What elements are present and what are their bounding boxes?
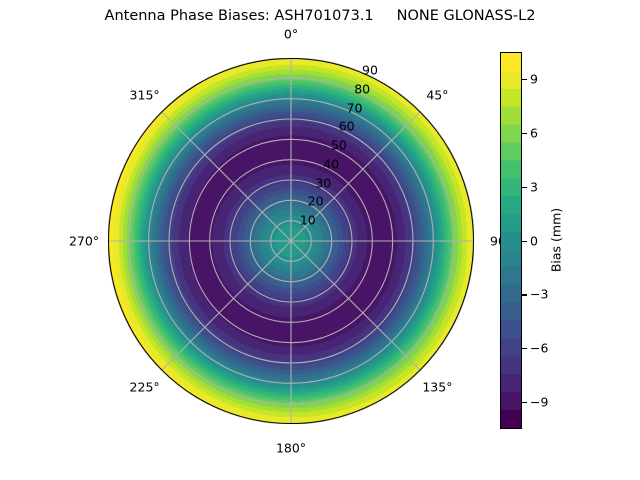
colorbar-tick-label: 0 [530, 233, 538, 248]
radial-tick-70: 70 [347, 100, 363, 115]
colorbar-tick-mark [522, 133, 527, 134]
radial-tick-60: 60 [339, 119, 355, 134]
radial-tick-90: 90 [362, 62, 378, 77]
colorbar-label: Bias (mm) [549, 208, 564, 272]
theta-tick-0: 0° [284, 27, 298, 42]
theta-tick-135: 135° [422, 380, 452, 395]
radial-tick-40: 40 [323, 156, 339, 171]
theta-tick-225: 225° [130, 380, 160, 395]
polar-heatmap [108, 58, 474, 424]
theta-tick-180: 180° [276, 441, 306, 456]
theta-tick-315: 315° [130, 87, 160, 102]
colorbar-tick-label: −9 [530, 395, 548, 410]
colorbar-tick-mark [522, 187, 527, 188]
radial-tick-80: 80 [354, 81, 370, 96]
theta-tick-45: 45° [426, 87, 448, 102]
page-title: Antenna Phase Biases: ASH701073.1 NONE G… [0, 8, 640, 24]
polar-data-disc [108, 58, 474, 424]
colorbar-tick-label: 9 [530, 71, 538, 86]
colorbar-tick-label: 6 [530, 125, 538, 140]
figure-canvas: Antenna Phase Biases: ASH701073.1 NONE G… [0, 0, 640, 480]
colorbar-tick-label: −6 [530, 341, 548, 356]
theta-tick-270: 270° [69, 234, 99, 249]
colorbar-tick-label: −3 [530, 287, 548, 302]
colorbar-gradient [500, 52, 522, 429]
polar-axes[interactable] [108, 58, 474, 424]
radial-tick-30: 30 [315, 175, 331, 190]
radial-tick-10: 10 [300, 213, 316, 228]
radial-tick-50: 50 [331, 138, 347, 153]
colorbar-tick-mark [522, 402, 527, 403]
colorbar-tick-mark [522, 348, 527, 349]
colorbar-tick-mark [522, 294, 527, 295]
colorbar-tick-mark [522, 241, 527, 242]
radial-tick-20: 20 [308, 194, 324, 209]
colorbar-tick-label: 3 [530, 179, 538, 194]
colorbar[interactable]: 9630−3−6−9 [500, 52, 522, 429]
colorbar-tick-mark [522, 79, 527, 80]
